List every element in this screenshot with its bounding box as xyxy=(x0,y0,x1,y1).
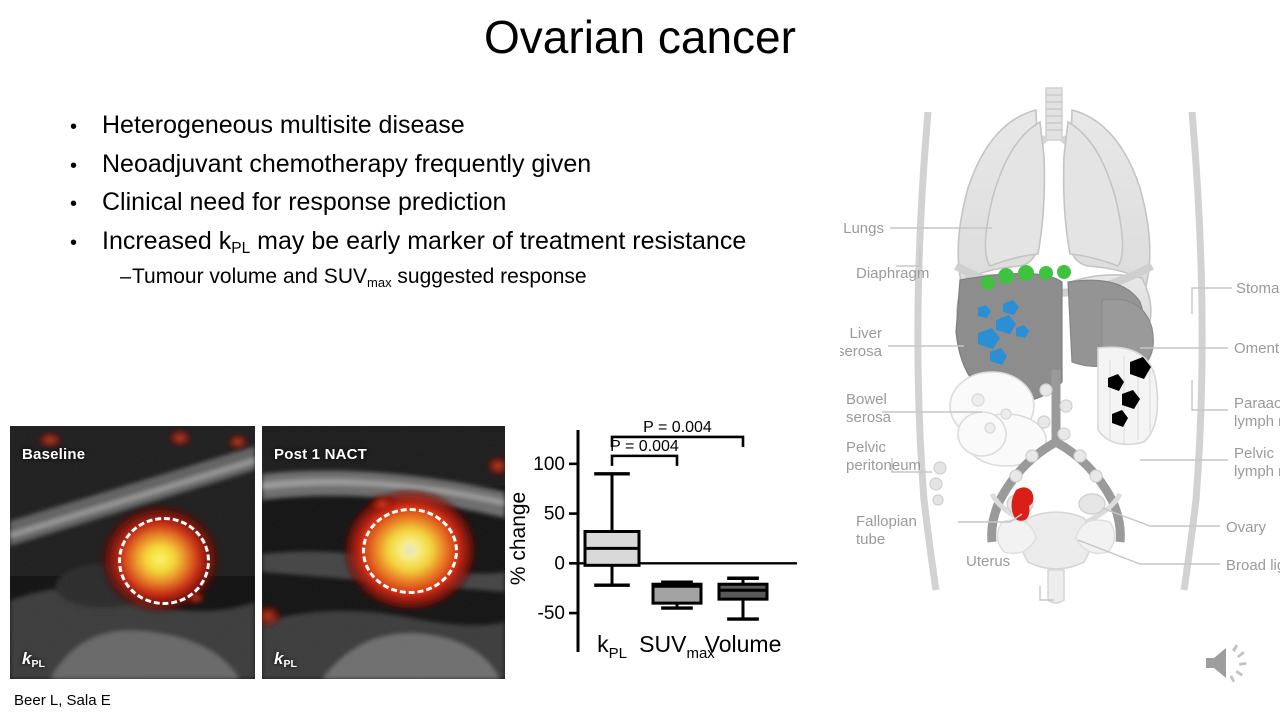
bullet-marker: • xyxy=(62,156,102,176)
bullet-item-2: • Neoadjuvant chemotherapy frequently gi… xyxy=(62,149,852,180)
anatomy-label-ovary: Ovary xyxy=(1226,519,1267,536)
roi-contour-post xyxy=(362,508,458,594)
speaker-icon[interactable] xyxy=(1196,630,1258,692)
pet-caption-baseline: Baseline xyxy=(22,446,85,463)
y-axis-label: % change xyxy=(507,492,530,585)
anatomy-label-uterus: Uterus xyxy=(966,553,1010,570)
pet-modality-label-post: kPL xyxy=(274,649,297,669)
anatomy-label-pelvic-nodes-line2: lymph nodes xyxy=(1234,463,1280,480)
bullet-text-sub: PL xyxy=(231,240,250,257)
anatomy-label-pelvic-peritoneum-line1: Pelvic xyxy=(846,439,887,456)
anatomy-label-broad-ligament: Broad ligament xyxy=(1226,557,1280,574)
anatomy-label-omentum: Omentum xyxy=(1234,340,1280,357)
footer-credit: Beer L, Sala E xyxy=(14,692,111,709)
bullet-text-sub: max xyxy=(367,275,392,290)
bullet-item-4: • Increased kPL may be early marker of t… xyxy=(62,226,852,257)
x-tick-label: kPL xyxy=(597,631,627,662)
x-tick-label: Volume xyxy=(705,631,782,657)
bullet-text-post: may be early marker of treatment resista… xyxy=(250,227,746,255)
y-tick-label: 0 xyxy=(554,553,565,574)
anatomy-label-bowel-serosa-line2: serosa xyxy=(846,409,892,426)
ovarian-tumour-lesion xyxy=(1012,487,1034,520)
anatomy-label-pelvic-peritoneum-line2: peritoneum xyxy=(846,457,921,474)
pet-modality-label-baseline: kPL xyxy=(22,649,45,669)
pelvic-peritoneum-nodules xyxy=(930,462,946,505)
p-value-label: P = 0.004 xyxy=(643,420,712,436)
y-tick-label: -50 xyxy=(538,603,565,624)
bullet-list: • Heterogeneous multisite disease • Neoa… xyxy=(62,110,852,294)
bullet-marker: • xyxy=(62,194,102,214)
bullet-marker: – xyxy=(62,267,132,287)
anatomy-label-bowel-serosa-line1: Bowel xyxy=(846,391,887,408)
y-tick-label: 100 xyxy=(533,454,565,475)
anatomy-label-lungs: Lungs xyxy=(843,220,884,237)
p-value-label: P = 0.004 xyxy=(610,438,679,455)
page-title: Ovarian cancer xyxy=(0,12,1280,63)
anatomy-label-pelvic-nodes-line1: Pelvic xyxy=(1234,445,1275,462)
significance-bracket xyxy=(612,456,677,466)
bullet-text: Clinical need for response prediction xyxy=(102,187,506,218)
bullet-text: Heterogeneous multisite disease xyxy=(102,110,465,141)
anatomy-label-liver-serosa-line2: serosa xyxy=(840,343,883,360)
uterus-organ xyxy=(1021,512,1091,603)
bullet-text-pre: Tumour volume and SUV xyxy=(132,265,367,288)
pet-caption-post: Post 1 NACT xyxy=(274,446,367,463)
bullet-text: Tumour volume and SUVmax suggested respo… xyxy=(132,264,587,290)
anatomy-label-stomach: Stomach xyxy=(1236,280,1280,297)
anatomy-diagram: Lungs Diaphragm Liver serosa Bowel seros… xyxy=(840,70,1280,615)
bullet-item-3: • Clinical need for response prediction xyxy=(62,187,852,218)
anatomy-label-fallopian-tube-line2: tube xyxy=(856,531,885,548)
boxplot-chart: 100500-50% changeP = 0.004P = 0.004kPLSU… xyxy=(505,420,805,682)
bullet-item-5: – Tumour volume and SUVmax suggested res… xyxy=(62,264,852,290)
anatomy-label-diaphragm: Diaphragm xyxy=(856,265,929,282)
bullet-text: Increased kPL may be early marker of tre… xyxy=(102,226,746,257)
roi-contour-baseline xyxy=(118,517,210,605)
bullet-marker: • xyxy=(62,117,102,137)
bullet-text: Neoadjuvant chemotherapy frequently give… xyxy=(102,149,591,180)
y-tick-label: 50 xyxy=(544,504,565,525)
bullet-text-post: suggested response xyxy=(392,265,587,288)
bullet-text-pre: Increased k xyxy=(102,227,231,255)
anatomy-label-paraaortic-line2: lymph nodes xyxy=(1234,413,1280,430)
pet-image-post-nact: Post 1 NACT kPL xyxy=(262,426,505,679)
anatomy-label-liver-serosa-line1: Liver xyxy=(849,325,882,342)
pet-image-baseline: Baseline kPL xyxy=(10,426,255,679)
bullet-marker: • xyxy=(62,233,102,253)
anatomy-label-fallopian-tube-line1: Fallopian xyxy=(856,513,917,530)
anatomy-label-paraaortic-line1: Paraaortic xyxy=(1234,395,1280,412)
bullet-item-1: • Heterogeneous multisite disease xyxy=(62,110,852,141)
